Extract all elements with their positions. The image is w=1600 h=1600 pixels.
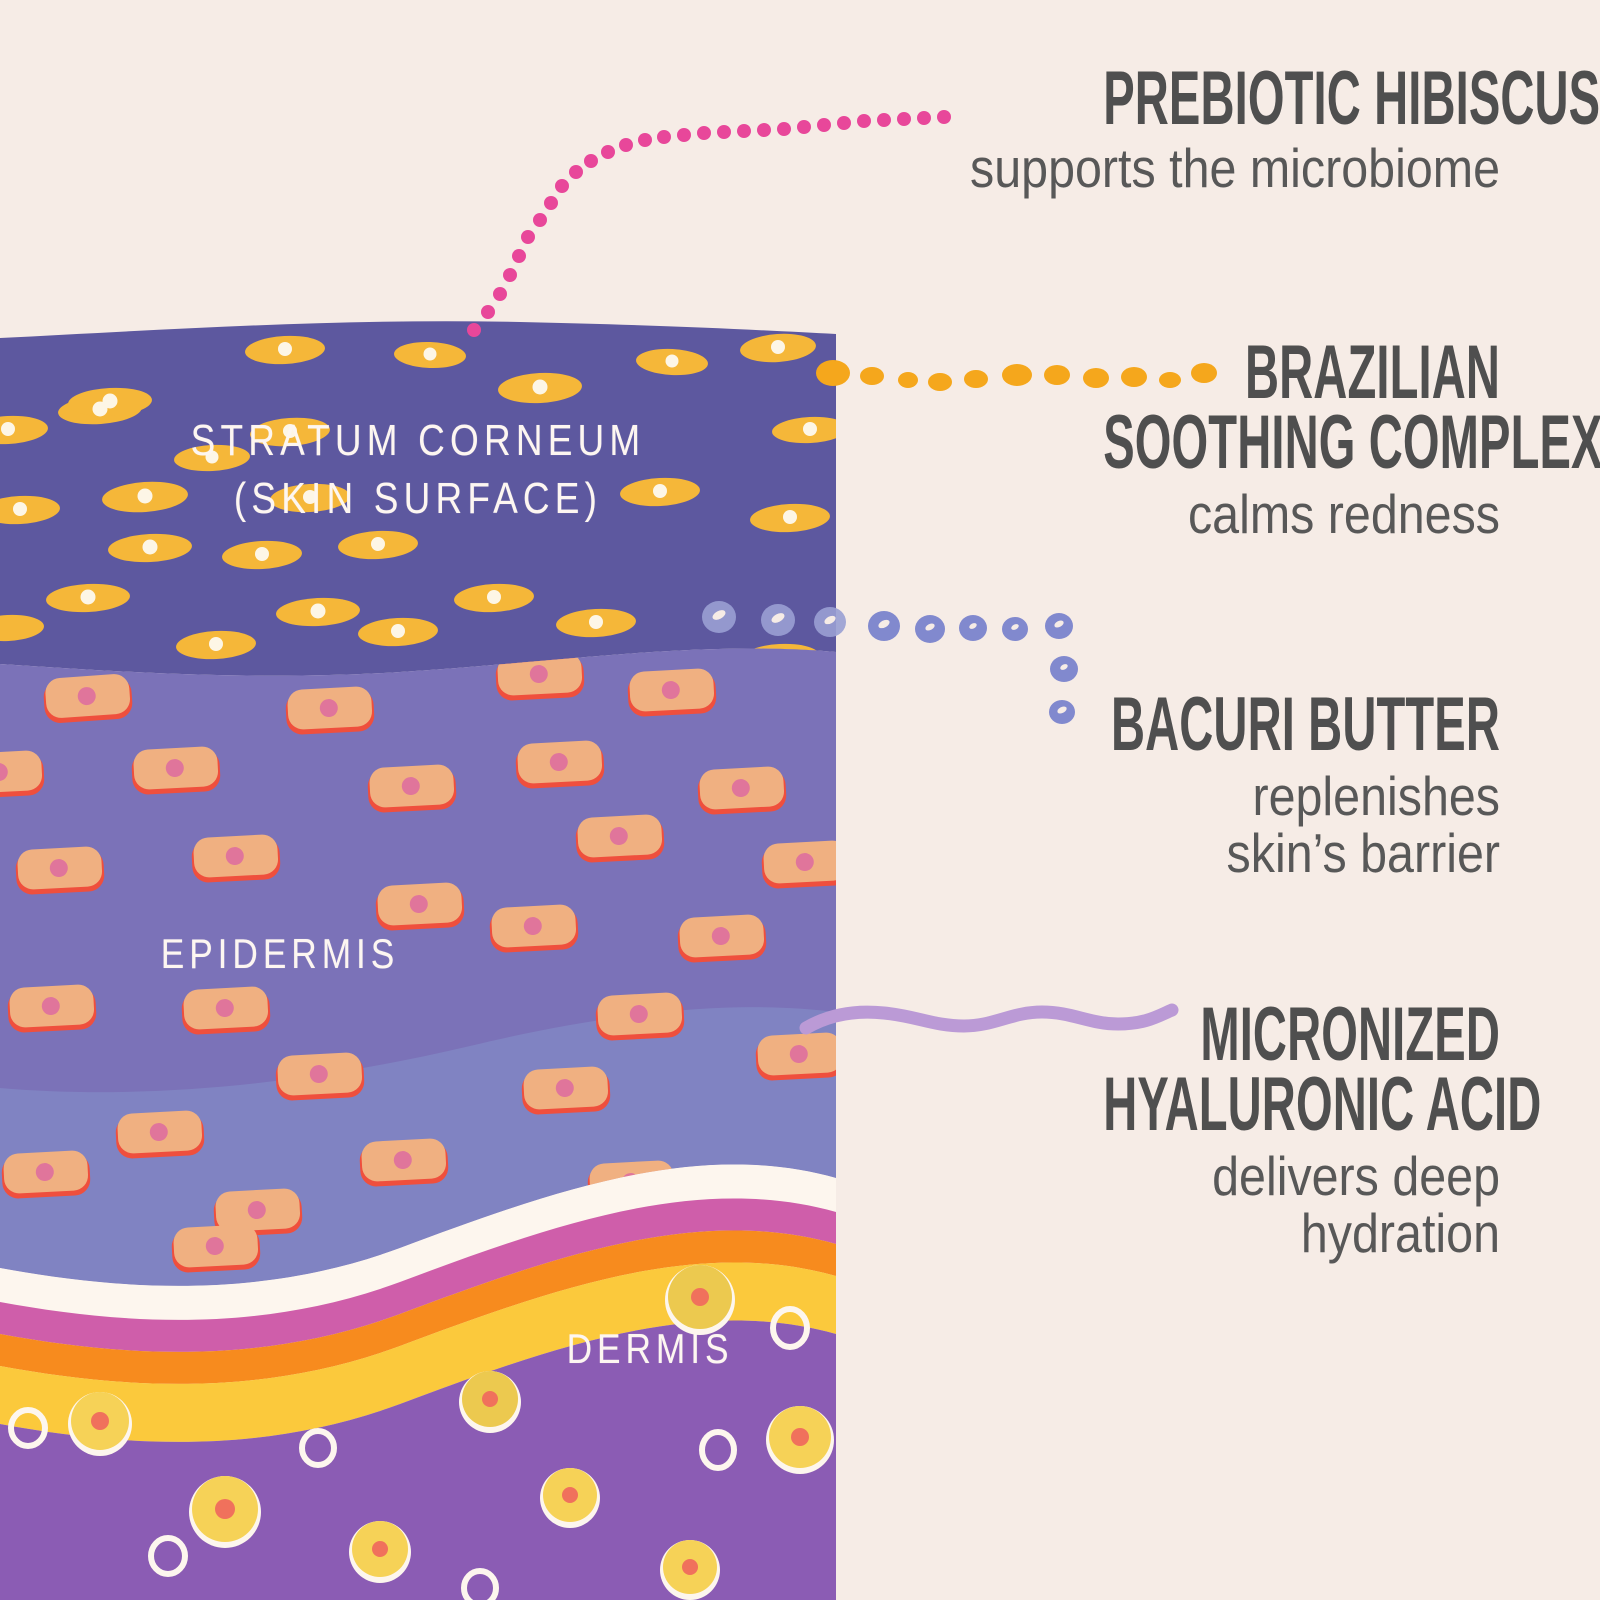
callout-title: BACURI BUTTER (1103, 690, 1500, 760)
callout-title-line: MICRONIZED (1103, 1000, 1500, 1070)
callout-sub-line: delivers deep (937, 1148, 1500, 1205)
callout-title-line: BRAZILIAN (1103, 338, 1500, 408)
callout-subtitle: calms redness (937, 486, 1500, 543)
callout-sub-line: supports the microbiome (937, 140, 1500, 197)
callout-subtitle: supports the microbiome (937, 140, 1500, 197)
callout-title-line: HYALURONIC ACID (1103, 1070, 1500, 1140)
callout-sub-line: skin’s barrier (937, 825, 1500, 882)
callout-prebiotic-hibiscus: PREBIOTIC HIBISCUS supports the microbio… (860, 64, 1500, 197)
label-dermis: DERMIS (381, 1325, 919, 1373)
callout-brazilian-soothing-complex: BRAZILIAN SOOTHING COMPLEX calms redness (860, 338, 1500, 543)
label-stratum-line1: STRATUM CORNEUM (67, 412, 769, 470)
callout-title: BRAZILIAN SOOTHING COMPLEX (1103, 338, 1500, 478)
label-stratum-line2: (SKIN SURFACE) (67, 470, 769, 528)
callout-title: PREBIOTIC HIBISCUS (1103, 64, 1500, 134)
callout-micronized-hyaluronic-acid: MICRONIZED HYALURONIC ACID delivers deep… (860, 1000, 1500, 1262)
label-epidermis: EPIDERMIS (45, 930, 515, 978)
callout-title: MICRONIZED HYALURONIC ACID (1103, 1000, 1500, 1140)
callout-bacuri-butter: BACURI BUTTER replenishes skin’s barrier (860, 690, 1500, 882)
callout-title-line: BACURI BUTTER (1103, 690, 1500, 760)
callout-sub-line: calms redness (937, 486, 1500, 543)
callout-subtitle: replenishes skin’s barrier (937, 768, 1500, 882)
callout-sub-line: hydration (937, 1205, 1500, 1262)
infographic-canvas: STRATUM CORNEUM (SKIN SURFACE) EPIDERMIS… (0, 0, 1600, 1600)
label-stratum-corneum: STRATUM CORNEUM (SKIN SURFACE) (67, 412, 769, 528)
callout-sub-line: replenishes (937, 768, 1500, 825)
callout-title-line: SOOTHING COMPLEX (1103, 408, 1500, 478)
ingredient-callouts: PREBIOTIC HIBISCUS supports the microbio… (860, 0, 1600, 1600)
callout-subtitle: delivers deep hydration (937, 1148, 1500, 1262)
callout-title-line: PREBIOTIC HIBISCUS (1103, 64, 1500, 134)
